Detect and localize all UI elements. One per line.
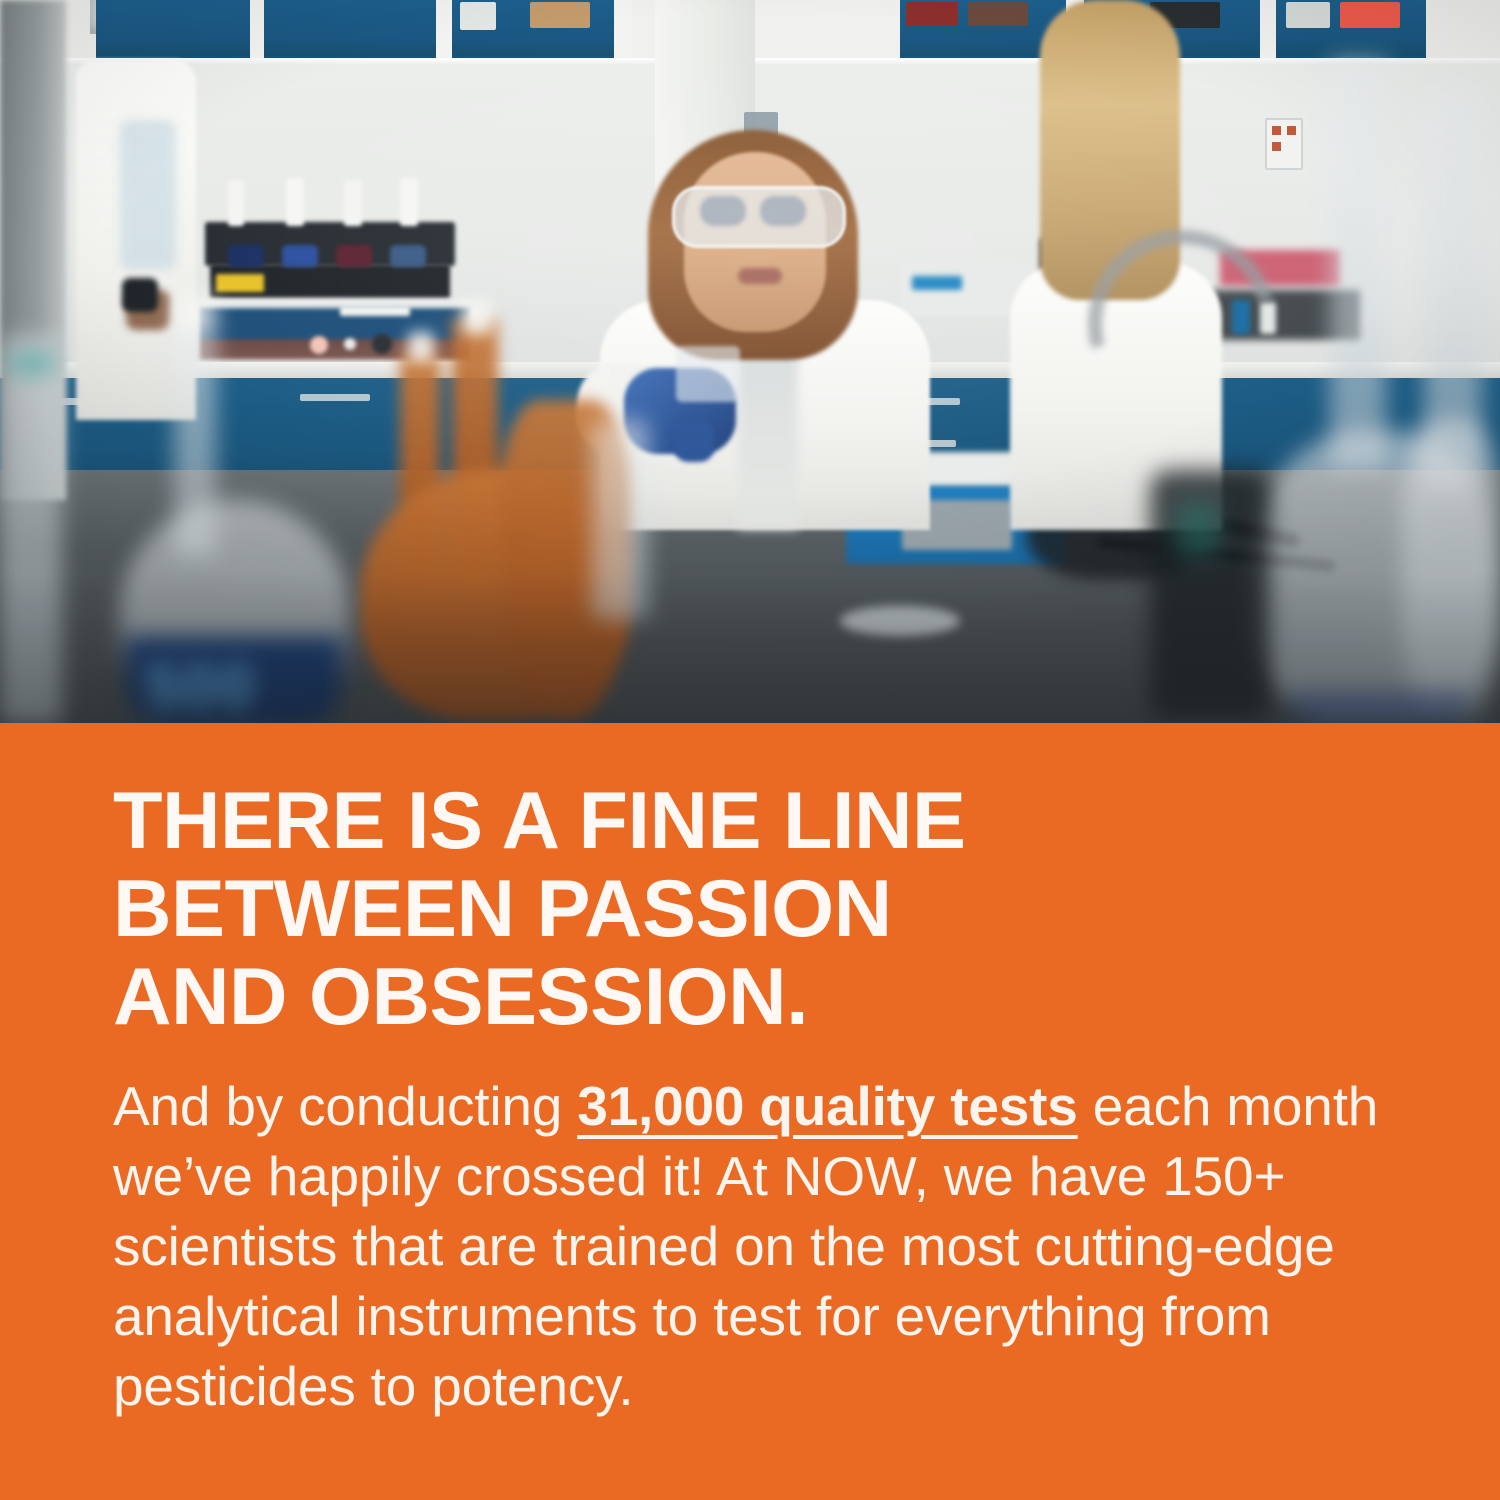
cabinet-stile (436, 0, 452, 64)
flask-volume-marking: 500 (146, 660, 296, 716)
instrument-knob (372, 334, 392, 354)
cabinet-door (264, 0, 440, 62)
labcoat-shadow (120, 120, 176, 270)
flask-on-shaker (228, 245, 264, 267)
headline-line-3: AND OBSESSION. (113, 953, 1393, 1041)
shelf-carton (530, 2, 590, 28)
analyzer-label (912, 276, 962, 290)
body-lead: And by conducting (113, 1075, 577, 1137)
cabinet-door (96, 0, 256, 62)
lab-photograph: 500 (0, 0, 1500, 723)
goggle-lens (760, 196, 806, 226)
page-title: THERE IS A FINE LINE BETWEEN PASSION AND… (113, 777, 1393, 1041)
body-paragraph: And by conducting 31,000 quality tests e… (113, 1071, 1403, 1421)
held-beaker (676, 346, 740, 402)
cabinet-stile (250, 0, 264, 64)
quality-tests-emphasis: 31,000 quality tests (577, 1075, 1077, 1137)
instrument-knob (344, 338, 356, 350)
safety-goggles (672, 186, 846, 248)
shelf-box (968, 2, 1028, 26)
flask-on-shaker (282, 245, 318, 267)
shelf-box (906, 2, 958, 26)
instrument-indicator (310, 336, 328, 354)
goggle-lens (700, 196, 746, 226)
glove-fingers (674, 420, 714, 462)
flask-on-shaker (336, 245, 372, 267)
glass-dish (840, 606, 960, 636)
cabinet-stile (1260, 0, 1276, 64)
test-tube (286, 178, 304, 226)
labcoat-fold (738, 350, 798, 530)
test-tube (228, 180, 244, 226)
shelf-bottle (1286, 2, 1330, 28)
wall-outlet (1265, 118, 1303, 170)
test-tube (344, 180, 362, 226)
outlet-indicator (1287, 126, 1296, 135)
outlet-indicator (1272, 142, 1281, 151)
marketing-poster: 500 (0, 0, 1500, 1500)
flask-on-shaker (390, 245, 426, 267)
headline-line-1: THERE IS A FINE LINE (113, 777, 1393, 865)
instrument-display (340, 306, 410, 316)
cabinet-stile (614, 0, 632, 64)
lab-scene-background: 500 (0, 0, 1500, 723)
test-tube (400, 178, 418, 226)
scientist-center-mouth (738, 268, 782, 284)
outlet-indicator (1272, 126, 1281, 135)
handheld-device (122, 278, 158, 312)
shelf-box-label (1340, 2, 1400, 28)
shelf-bottle (460, 2, 496, 30)
headline-line-2: BETWEEN PASSION (113, 865, 1393, 953)
drawer-handle (300, 394, 370, 401)
shaker-yellow-label (216, 274, 264, 292)
orange-copy-panel: THERE IS A FINE LINE BETWEEN PASSION AND… (0, 723, 1500, 1500)
